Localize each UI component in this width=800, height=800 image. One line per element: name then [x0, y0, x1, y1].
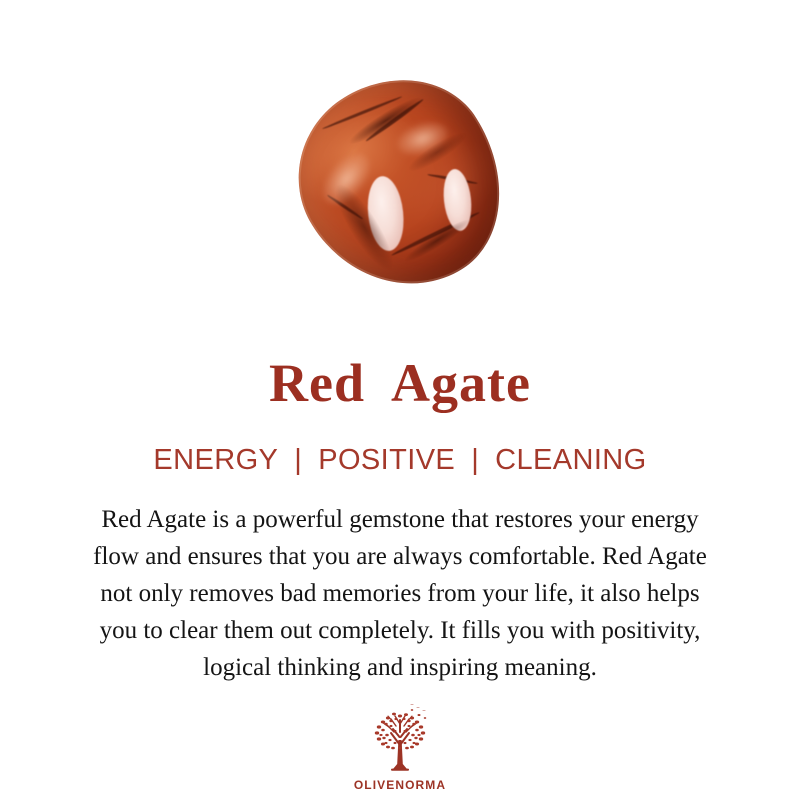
stone-vein [365, 98, 424, 143]
keyword-separator: | [280, 444, 316, 477]
keyword-separator: | [457, 444, 493, 477]
gemstone-image [290, 78, 512, 290]
stone-inclusion [364, 175, 407, 253]
keyword-positive: POSITIVE [316, 444, 457, 477]
stone-vein [427, 173, 478, 185]
stone-gloss [314, 146, 377, 212]
stone-rim [264, 44, 540, 324]
stone-inclusion [441, 168, 475, 233]
brand-logo: OLIVENORMA [354, 702, 446, 792]
keyword-cleaning: CLEANING [493, 444, 648, 477]
hero-image-area [0, 0, 800, 320]
keyword-subtitle: ENERGY | POSITIVE | CLEANING [151, 444, 648, 477]
red-agate-stone-icon [264, 44, 540, 324]
stone-vein [391, 211, 481, 258]
page-title: Red Agate [269, 356, 531, 410]
brand-wordmark: OLIVENORMA [354, 778, 446, 792]
description-line: logical thinking and inspiring meaning. [20, 649, 780, 686]
keyword-energy: ENERGY [151, 444, 280, 477]
description-line: Red Agate is a powerful gemstone that re… [20, 501, 780, 538]
description-line: not only removes bad memories from your … [20, 575, 780, 612]
stone-gloss [394, 118, 451, 161]
stone-vein [321, 95, 402, 130]
description-line: you to clear them out completely. It fil… [20, 612, 780, 649]
stone-vein [326, 194, 363, 221]
description-text: Red Agate is a powerful gemstone that re… [20, 501, 780, 686]
tree-of-life-icon [362, 702, 438, 776]
product-info-card: Red Agate ENERGY | POSITIVE | CLEANING R… [0, 0, 800, 800]
description-line: flow and ensures that you are always com… [20, 538, 780, 575]
